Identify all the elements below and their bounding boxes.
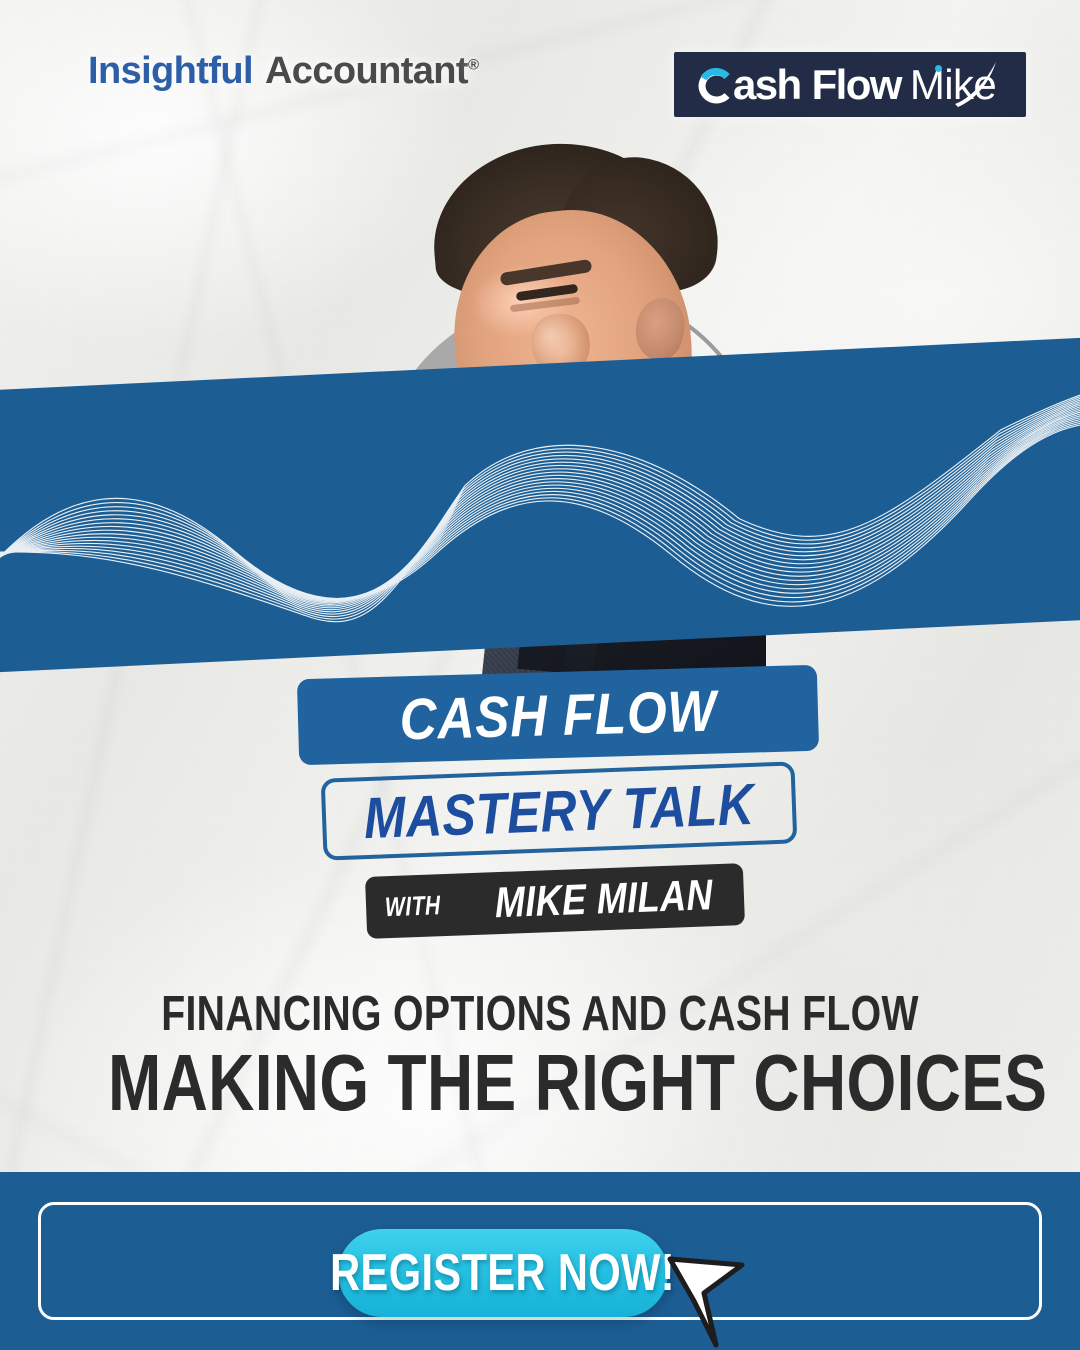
mike-i-dot-icon: [935, 65, 942, 72]
logo-word-accountant: Accountant: [265, 50, 468, 92]
cta-footer: REGISTER NOW!: [0, 1172, 1080, 1350]
with-label: WITH: [384, 890, 441, 923]
topic-line-1: FINANCING OPTIONS AND CASH FLOW: [108, 990, 972, 1040]
insightful-accountant-logo[interactable]: InsightfulAccountant®: [88, 50, 478, 93]
speaker-name: MIKE MILAN: [494, 871, 714, 928]
promo-poster: InsightfulAccountant® ash Flow Mike: [0, 0, 1080, 1350]
blue-wave-band: [0, 337, 1080, 673]
wave-lineart-icon: [0, 337, 1080, 673]
topic-line-2: MAKING THE RIGHT CHOICES: [108, 1042, 972, 1124]
cashflowmike-c-mark-icon: [696, 65, 732, 105]
title-bar-mastery-talk: MASTERY TALK: [321, 761, 798, 860]
topic-headline: FINANCING OPTIONS AND CASH FLOW MAKING T…: [0, 990, 1080, 1124]
logo-text-ash: ash: [733, 64, 801, 106]
registered-trademark-icon: ®: [468, 56, 478, 73]
register-now-label: REGISTER NOW!: [331, 1243, 676, 1303]
logo-word-insightful: Insightful: [88, 50, 253, 92]
title-text-cash-flow: CASH FLOW: [399, 677, 718, 753]
register-now-button[interactable]: REGISTER NOW!: [338, 1229, 668, 1317]
logo-text-flow: Flow: [812, 64, 901, 106]
cash-flow-mike-logo[interactable]: ash Flow Mike: [674, 52, 1026, 117]
title-bar-cash-flow: CASH FLOW: [297, 665, 819, 765]
logo-text-mike: Mike: [910, 64, 996, 106]
title-text-mastery-talk: MASTERY TALK: [363, 770, 756, 851]
